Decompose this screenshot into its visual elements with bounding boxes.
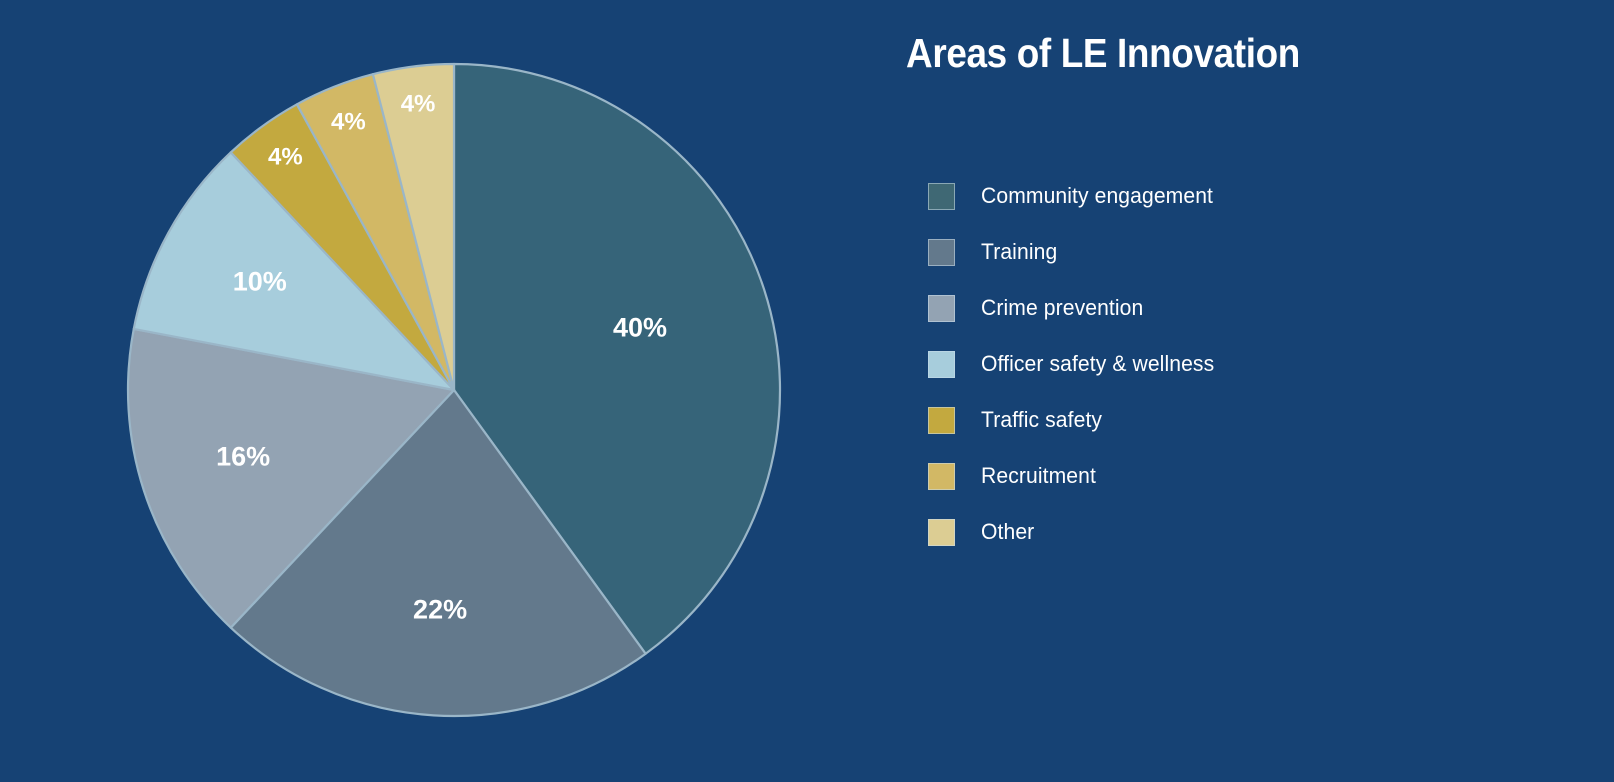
legend-item[interactable]: Recruitment (928, 448, 1528, 504)
legend-swatch-icon (928, 463, 955, 490)
legend-item-label: Crime prevention (981, 295, 1143, 321)
right-panel: Areas of LE Innovation Community engagem… (860, 0, 1614, 782)
pie-slice-label: 4% (331, 109, 366, 136)
legend-item[interactable]: Crime prevention (928, 280, 1528, 336)
legend-swatch-icon (928, 351, 955, 378)
pie-slice-label: 4% (401, 91, 436, 118)
pie-chart: 40%22%16%10%4%4%4% (126, 62, 782, 718)
legend-item-label: Other (981, 519, 1034, 545)
legend-item-label: Officer safety & wellness (981, 351, 1214, 377)
legend-item-label: Traffic safety (981, 407, 1102, 433)
legend-item[interactable]: Officer safety & wellness (928, 336, 1528, 392)
legend-item-label: Training (981, 239, 1057, 265)
pie-slice-label: 22% (413, 594, 467, 624)
legend-swatch-icon (928, 239, 955, 266)
pie-slice-label: 4% (268, 143, 303, 170)
pie-slice-label: 10% (233, 266, 287, 296)
legend-item-label: Community engagement (981, 183, 1213, 209)
legend-item-label: Recruitment (981, 463, 1096, 489)
legend-item[interactable]: Community engagement (928, 168, 1528, 224)
page-title: Areas of LE Innovation (884, 27, 1321, 79)
chart-legend: Community engagementTrainingCrime preven… (928, 168, 1528, 560)
pie-slice-label: 16% (216, 442, 270, 472)
pie-slice-label: 40% (613, 313, 667, 343)
legend-swatch-icon (928, 407, 955, 434)
legend-item[interactable]: Training (928, 224, 1528, 280)
legend-item[interactable]: Other (928, 504, 1528, 560)
legend-swatch-icon (928, 295, 955, 322)
legend-swatch-icon (928, 519, 955, 546)
legend-swatch-icon (928, 183, 955, 210)
chart-canvas: 40%22%16%10%4%4%4% Areas of LE Innovatio… (0, 0, 1614, 782)
legend-item[interactable]: Traffic safety (928, 392, 1528, 448)
pie-chart-svg: 40%22%16%10%4%4%4% (126, 62, 782, 718)
